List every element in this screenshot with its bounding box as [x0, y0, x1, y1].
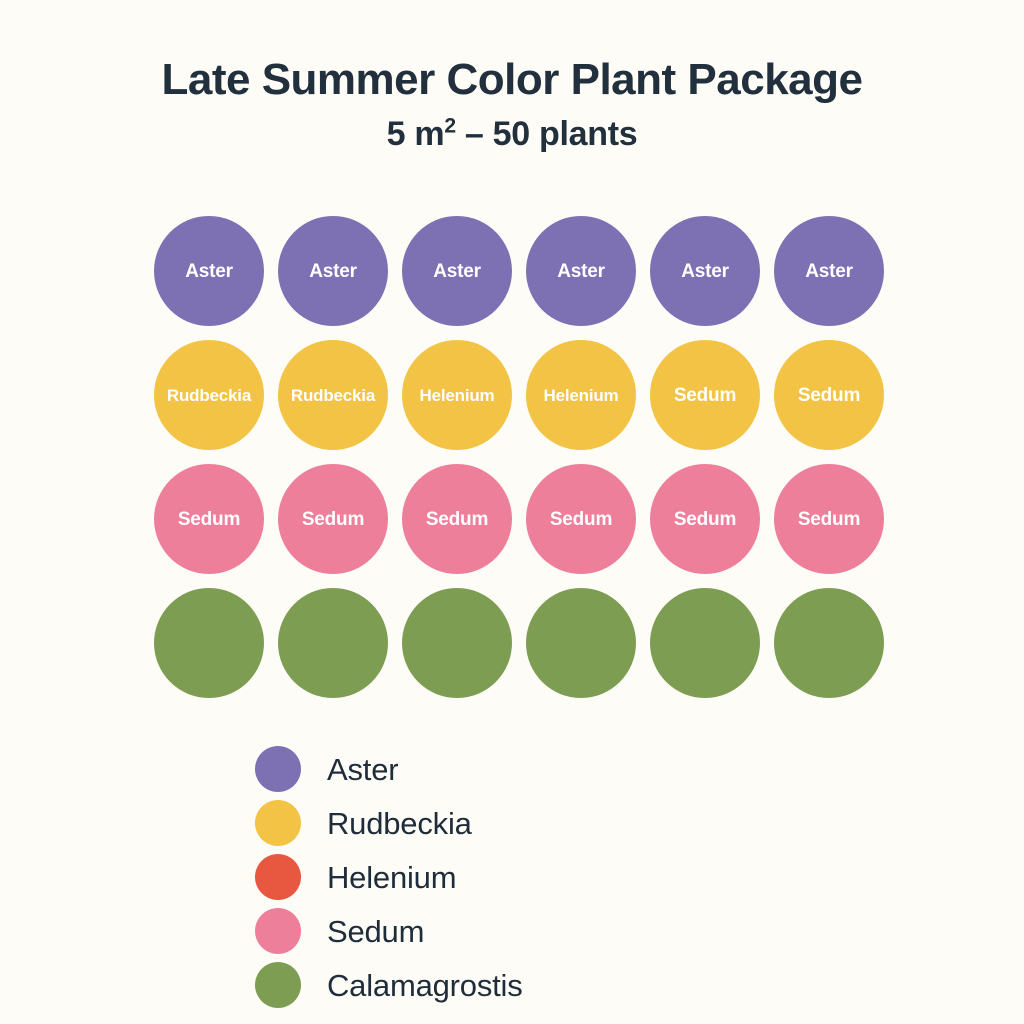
legend-swatch-circle-icon — [255, 746, 301, 792]
plant-dot[interactable] — [526, 588, 636, 698]
plant-dot[interactable]: Sedum — [402, 464, 512, 574]
plant-dot[interactable]: Sedum — [650, 464, 760, 574]
subtitle-superscript: 2 — [444, 115, 455, 138]
plant-dot-label: Aster — [309, 262, 357, 281]
subtitle-suffix: – 50 plants — [456, 115, 638, 153]
plant-dot[interactable]: Aster — [402, 216, 512, 326]
legend-swatch-circle-icon — [255, 854, 301, 900]
plant-dot-label: Sedum — [550, 510, 612, 529]
plant-grid: AsterAsterAsterAsterAsterAsterRudbeckiaR… — [154, 216, 894, 712]
plant-dot[interactable] — [774, 588, 884, 698]
legend-item[interactable]: Sedum — [255, 904, 775, 958]
plant-dot[interactable]: Sedum — [526, 464, 636, 574]
plant-dot-label: Sedum — [674, 386, 736, 405]
plant-dot[interactable]: Sedum — [278, 464, 388, 574]
plant-dot-label: Sedum — [674, 510, 736, 529]
plant-grid-row: AsterAsterAsterAsterAsterAster — [154, 216, 894, 326]
plant-dot[interactable]: Aster — [774, 216, 884, 326]
plant-dot-label: Helenium — [544, 387, 619, 404]
plant-dot[interactable]: Sedum — [774, 340, 884, 450]
plant-dot-label: Aster — [805, 262, 853, 281]
page-subtitle: 5 m2 – 50 plants — [0, 114, 1024, 155]
plant-dot[interactable]: Aster — [278, 216, 388, 326]
legend: AsterRudbeckiaHeleniumSedumCalamagrostis — [255, 742, 775, 1012]
plant-package-infographic: Late Summer Color Plant Package 5 m2 – 5… — [0, 0, 1024, 1024]
plant-dot[interactable]: Sedum — [154, 464, 264, 574]
plant-dot-label: Sedum — [302, 510, 364, 529]
plant-dot[interactable] — [402, 588, 512, 698]
legend-item[interactable]: Helenium — [255, 850, 775, 904]
legend-item-label: Aster — [327, 754, 398, 785]
plant-grid-row — [154, 588, 894, 698]
plant-dot[interactable]: Aster — [526, 216, 636, 326]
plant-dot[interactable]: Helenium — [526, 340, 636, 450]
legend-item[interactable]: Calamagrostis — [255, 958, 775, 1012]
plant-dot[interactable]: Sedum — [650, 340, 760, 450]
plant-dot-label: Sedum — [178, 510, 240, 529]
plant-dot[interactable]: Sedum — [774, 464, 884, 574]
plant-dot[interactable] — [650, 588, 760, 698]
plant-dot[interactable] — [154, 588, 264, 698]
plant-dot[interactable]: Rudbeckia — [154, 340, 264, 450]
plant-dot-label: Rudbeckia — [167, 387, 251, 404]
plant-dot-label: Helenium — [420, 387, 495, 404]
legend-swatch-circle-icon — [255, 962, 301, 1008]
plant-dot-label: Aster — [433, 262, 481, 281]
plant-dot-label: Sedum — [426, 510, 488, 529]
legend-item[interactable]: Aster — [255, 742, 775, 796]
legend-item-label: Sedum — [327, 916, 424, 947]
legend-swatch-circle-icon — [255, 800, 301, 846]
plant-dot-label: Sedum — [798, 510, 860, 529]
plant-grid-row: RudbeckiaRudbeckiaHeleniumHeleniumSedumS… — [154, 340, 894, 450]
subtitle-prefix: 5 m — [387, 115, 445, 153]
plant-dot-label: Aster — [681, 262, 729, 281]
legend-item-label: Calamagrostis — [327, 970, 523, 1001]
plant-grid-row: SedumSedumSedumSedumSedumSedum — [154, 464, 894, 574]
legend-item-label: Helenium — [327, 862, 456, 893]
plant-dot[interactable]: Aster — [154, 216, 264, 326]
plant-dot[interactable]: Aster — [650, 216, 760, 326]
plant-dot-label: Aster — [557, 262, 605, 281]
plant-dot[interactable]: Helenium — [402, 340, 512, 450]
page-title: Late Summer Color Plant Package — [0, 54, 1024, 106]
plant-dot-label: Sedum — [798, 386, 860, 405]
plant-dot-label: Rudbeckia — [291, 387, 375, 404]
legend-item-label: Rudbeckia — [327, 808, 472, 839]
plant-dot[interactable] — [278, 588, 388, 698]
legend-item[interactable]: Rudbeckia — [255, 796, 775, 850]
plant-dot[interactable]: Rudbeckia — [278, 340, 388, 450]
plant-dot-label: Aster — [185, 262, 233, 281]
legend-swatch-circle-icon — [255, 908, 301, 954]
header: Late Summer Color Plant Package 5 m2 – 5… — [0, 54, 1024, 155]
